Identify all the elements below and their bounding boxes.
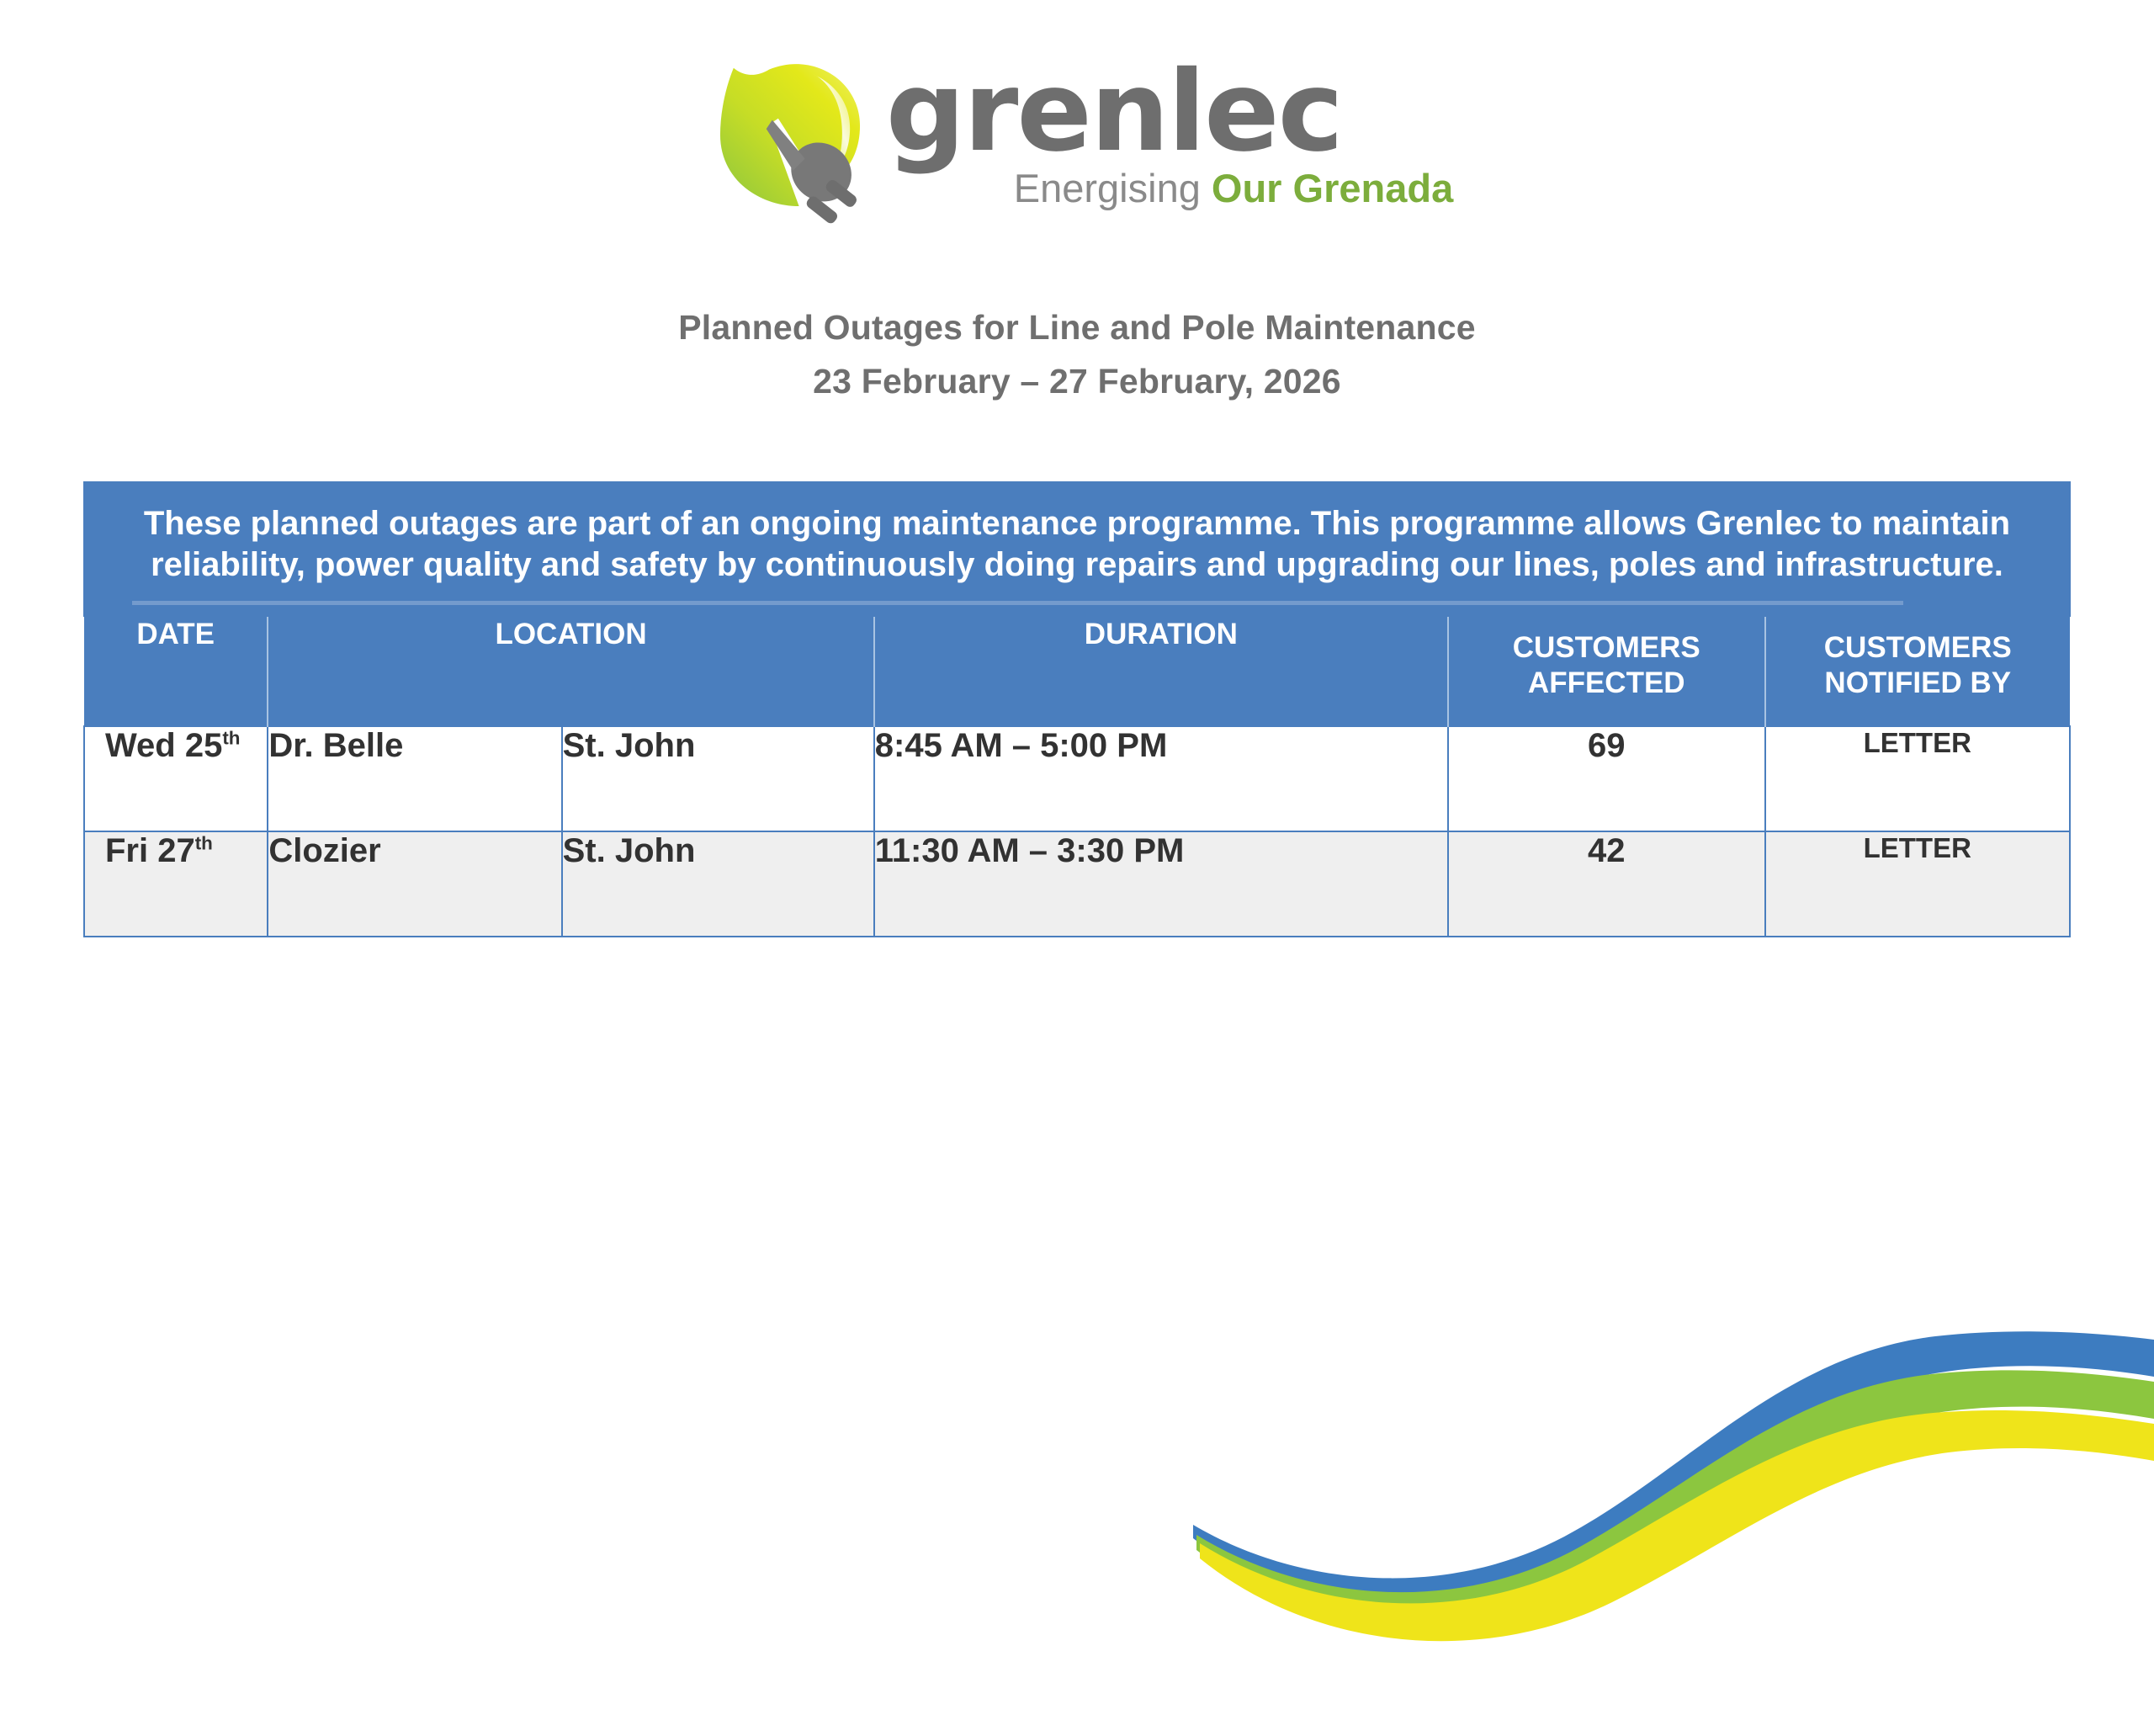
notice-paragraph: These planned outages are part of an ong… <box>132 503 2022 586</box>
logo-inner: grenlec Energising Our Grenada <box>701 44 1453 226</box>
outage-table: DATE LOCATION DURATION CUSTOMERS AFFECTE… <box>83 617 2071 937</box>
col-header-customers-affected-line2: AFFECTED <box>1449 666 1764 700</box>
col-header-customers-notified: CUSTOMERS NOTIFIED BY <box>1765 617 2070 726</box>
cell-customers-notified-by: LETTER <box>1765 831 2070 937</box>
page-date-range: 23 February – 27 February, 2026 <box>0 362 2154 401</box>
cell-customers-affected: 69 <box>1448 726 1765 831</box>
page-title: Planned Outages for Line and Pole Mainte… <box>0 308 2154 348</box>
table-header-row: DATE LOCATION DURATION CUSTOMERS AFFECTE… <box>84 617 2070 726</box>
col-header-customers-affected: CUSTOMERS AFFECTED <box>1448 617 1765 726</box>
outage-sheet: These planned outages are part of an ong… <box>83 481 2071 937</box>
cell-date-day: Fri 27 <box>105 832 195 869</box>
cell-customers-notified-by: LETTER <box>1765 726 2070 831</box>
table-head: DATE LOCATION DURATION CUSTOMERS AFFECTE… <box>84 617 2070 726</box>
wordmark: grenlec <box>886 59 1342 166</box>
grenlec-leaf-plug-icon <box>701 47 879 226</box>
col-header-date: DATE <box>84 617 268 726</box>
brand-wave-graphic <box>1178 1321 2154 1658</box>
cell-date-day: Wed 25 <box>105 727 222 764</box>
banner-divider <box>132 601 1903 605</box>
cell-date: Wed 25th <box>84 726 268 831</box>
cell-date-suffix: th <box>222 728 240 749</box>
cell-location-place: Dr. Belle <box>268 726 561 831</box>
tagline: Energising Our Grenada <box>1014 167 1453 209</box>
table-row: Wed 25th Dr. Belle St. John 8:45 AM – 5:… <box>84 726 2070 831</box>
col-header-customers-notified-line2: NOTIFIED BY <box>1766 666 2070 700</box>
cell-date-suffix: th <box>195 833 213 854</box>
col-header-customers-affected-line1: CUSTOMERS <box>1449 630 1764 665</box>
cell-duration: 11:30 AM – 3:30 PM <box>874 831 1448 937</box>
logo-text: grenlec Energising Our Grenada <box>886 59 1453 209</box>
cell-location-parish: St. John <box>562 726 874 831</box>
cell-duration: 8:45 AM – 5:00 PM <box>874 726 1448 831</box>
col-header-location: LOCATION <box>268 617 873 726</box>
wave-yellow <box>1200 1410 2154 1641</box>
tagline-our-grenada: Our Grenada <box>1212 166 1453 210</box>
table-row: Fri 27th Clozier St. John 11:30 AM – 3:3… <box>84 831 2070 937</box>
cell-date: Fri 27th <box>84 831 268 937</box>
cell-location-place: Clozier <box>268 831 561 937</box>
col-header-customers-notified-line1: CUSTOMERS <box>1766 630 2070 665</box>
tagline-energising: Energising <box>1014 166 1212 210</box>
cell-customers-affected: 42 <box>1448 831 1765 937</box>
wave-green <box>1196 1370 2154 1626</box>
table-body: Wed 25th Dr. Belle St. John 8:45 AM – 5:… <box>84 726 2070 937</box>
notice-banner: These planned outages are part of an ong… <box>83 481 2071 617</box>
col-header-duration: DURATION <box>874 617 1448 726</box>
cell-location-parish: St. John <box>562 831 874 937</box>
brand-logo: grenlec Energising Our Grenada <box>0 44 2154 226</box>
